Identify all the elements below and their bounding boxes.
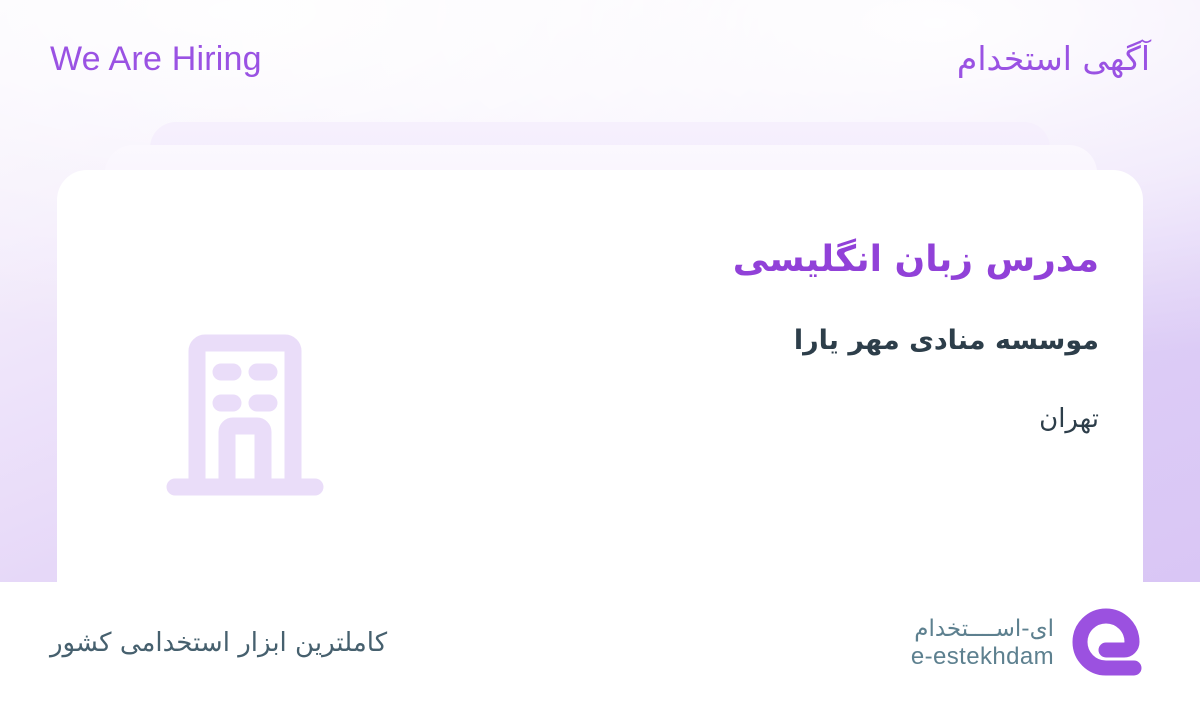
brand-logo[interactable]: ای-اســــتخدام e-estekhdam: [911, 607, 1148, 681]
job-posting-banner: We Are Hiring آگهی استخدام مدرس زبان انگ…: [0, 0, 1200, 705]
footer-bar: کاملترین ابزار استخدامی کشور ای-اســــتخ…: [0, 582, 1200, 705]
brand-name-persian: ای-اســــتخدام: [914, 617, 1054, 642]
header-bar: We Are Hiring آگهی استخدام: [0, 0, 1200, 118]
company-logo-slot: [97, 232, 733, 499]
building-icon: [165, 324, 325, 499]
job-location: تهران: [733, 403, 1099, 437]
brand-name-english: e-estekhdam: [911, 644, 1054, 670]
job-card[interactable]: مدرس زبان انگلیسی موسسه منادی مهر یارا ت…: [57, 170, 1143, 582]
job-details: مدرس زبان انگلیسی موسسه منادی مهر یارا ت…: [733, 232, 1099, 437]
footer-tagline: کاملترین ابزار استخدامی کشور: [50, 627, 387, 661]
header-english-label: We Are Hiring: [50, 42, 262, 76]
hero-gradient-area: We Are Hiring آگهی استخدام مدرس زبان انگ…: [0, 0, 1200, 582]
job-card-content: مدرس زبان انگلیسی موسسه منادی مهر یارا ت…: [57, 170, 1143, 582]
job-title: مدرس زبان انگلیسی: [733, 236, 1099, 285]
brand-wordmark: ای-اســــتخدام e-estekhdam: [911, 617, 1054, 670]
company-name: موسسه منادی مهر یارا: [733, 323, 1099, 359]
e-logo-icon: [1072, 607, 1148, 681]
header-persian-label: آگهی استخدام: [957, 38, 1150, 79]
